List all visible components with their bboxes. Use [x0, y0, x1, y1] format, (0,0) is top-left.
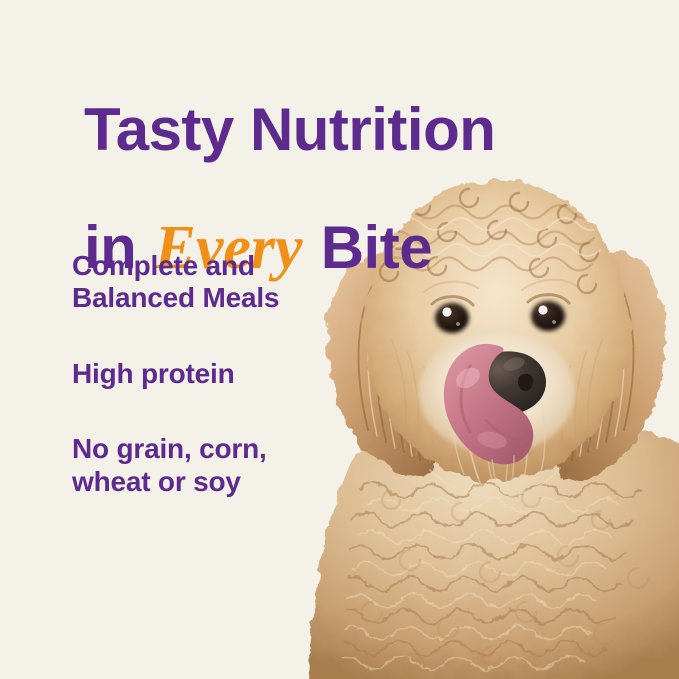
dog-ear-left: [326, 252, 450, 478]
dog-ear-right: [544, 250, 666, 480]
eye-catchlight-left: [442, 307, 451, 316]
eye-catchlight-right: [538, 305, 547, 314]
dog-body: [308, 418, 679, 679]
dog-eye-right: [531, 301, 565, 331]
feature-list: Complete and Balanced Meals High protein…: [72, 250, 334, 498]
feature-item-2: High protein: [72, 358, 334, 390]
headline-line-1: Tasty Nutrition: [84, 96, 495, 163]
page-title: Tasty Nutrition in Every Bite: [84, 42, 624, 279]
promo-banner: Tasty Nutrition in Every Bite Complete a…: [0, 0, 679, 679]
dog-muzzle: [419, 330, 575, 480]
dog-tongue: [444, 344, 533, 464]
feature-item-3: No grain, corn, wheat or soy: [72, 433, 334, 498]
feature-item-1: Complete and Balanced Meals: [72, 250, 334, 315]
dog-eye-left: [435, 303, 469, 333]
dog-nose: [472, 351, 546, 414]
